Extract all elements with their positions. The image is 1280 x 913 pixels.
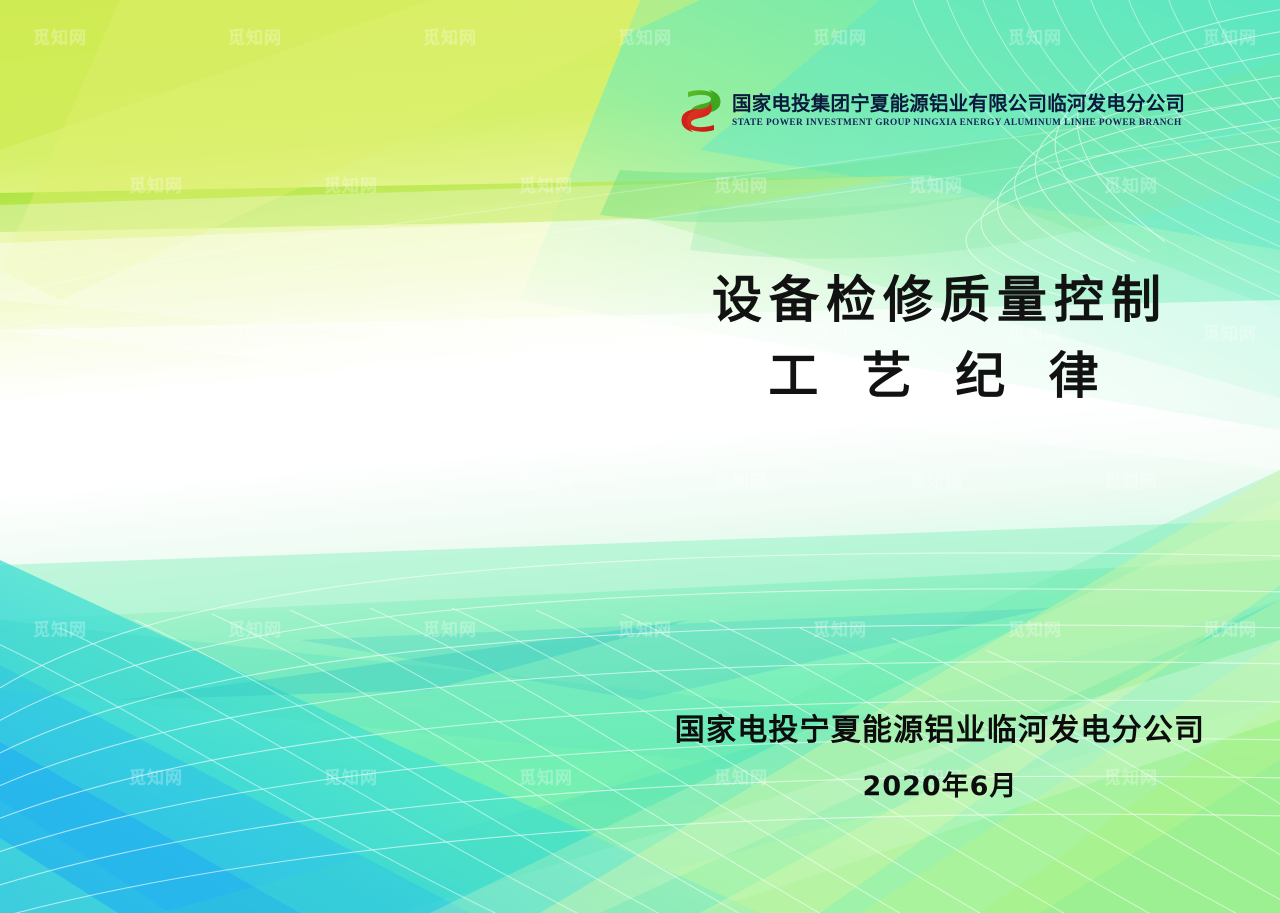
watermark-text: 觅知网 — [813, 24, 867, 49]
cover-page: 觅知网觅知网觅知网觅知网觅知网觅知网觅知网觅知网觅知网觅知网觅知网觅知网觅知网觅… — [0, 0, 1280, 913]
watermark-text: 觅知网 — [909, 468, 963, 493]
title-line-2: 工 艺 纪 律 — [640, 338, 1240, 414]
watermark-text: 觅知网 — [714, 468, 768, 493]
footer-date: 2020年6月 — [640, 765, 1240, 808]
spic-helix-logo-icon — [678, 86, 724, 136]
watermark-text: 觅知网 — [423, 320, 477, 345]
watermark-text: 觅知网 — [1008, 24, 1062, 49]
company-name-en: STATE POWER INVESTMENT GROUP NINGXIA ENE… — [732, 117, 1185, 131]
watermark-text: 觅知网 — [909, 172, 963, 197]
company-header: 国家电投集团宁夏能源铝业有限公司临河发电分公司 STATE POWER INVE… — [678, 84, 1140, 138]
watermark-text: 觅知网 — [33, 616, 87, 641]
watermark-text: 觅知网 — [129, 468, 183, 493]
watermark-text: 觅知网 — [423, 24, 477, 49]
watermark-text: 觅知网 — [324, 468, 378, 493]
watermark-text: 觅知网 — [228, 24, 282, 49]
company-name-cn: 国家电投集团宁夏能源铝业有限公司临河发电分公司 — [732, 92, 1185, 115]
watermark-text: 觅知网 — [1008, 616, 1062, 641]
watermark-text: 觅知网 — [324, 172, 378, 197]
watermark-text: 觅知网 — [519, 764, 573, 789]
watermark-text: 觅知网 — [129, 172, 183, 197]
watermark-text: 觅知网 — [33, 320, 87, 345]
watermark-text: 觅知网 — [813, 616, 867, 641]
page-title: 设备检修质量控制 工 艺 纪 律 — [640, 262, 1240, 414]
watermark-text: 觅知网 — [228, 320, 282, 345]
watermark-text: 觅知网 — [1104, 468, 1158, 493]
watermark-text: 觅知网 — [714, 172, 768, 197]
title-line-1: 设备检修质量控制 — [640, 262, 1240, 338]
watermark-text: 觅知网 — [228, 616, 282, 641]
footer-organization: 国家电投宁夏能源铝业临河发电分公司 — [640, 708, 1240, 753]
company-header-text: 国家电投集团宁夏能源铝业有限公司临河发电分公司 STATE POWER INVE… — [732, 91, 1185, 131]
watermark-text: 觅知网 — [618, 616, 672, 641]
watermark-text: 觅知网 — [33, 24, 87, 49]
watermark-text: 觅知网 — [324, 764, 378, 789]
watermark-text: 觅知网 — [1203, 24, 1257, 49]
document-footer: 国家电投宁夏能源铝业临河发电分公司 2020年6月 — [640, 708, 1240, 808]
watermark-text: 觅知网 — [423, 616, 477, 641]
watermark-text: 觅知网 — [519, 468, 573, 493]
watermark-text: 觅知网 — [1203, 616, 1257, 641]
watermark-text: 觅知网 — [1104, 172, 1158, 197]
watermark-text: 觅知网 — [519, 172, 573, 197]
watermark-text: 觅知网 — [618, 24, 672, 49]
watermark-text: 觅知网 — [129, 764, 183, 789]
